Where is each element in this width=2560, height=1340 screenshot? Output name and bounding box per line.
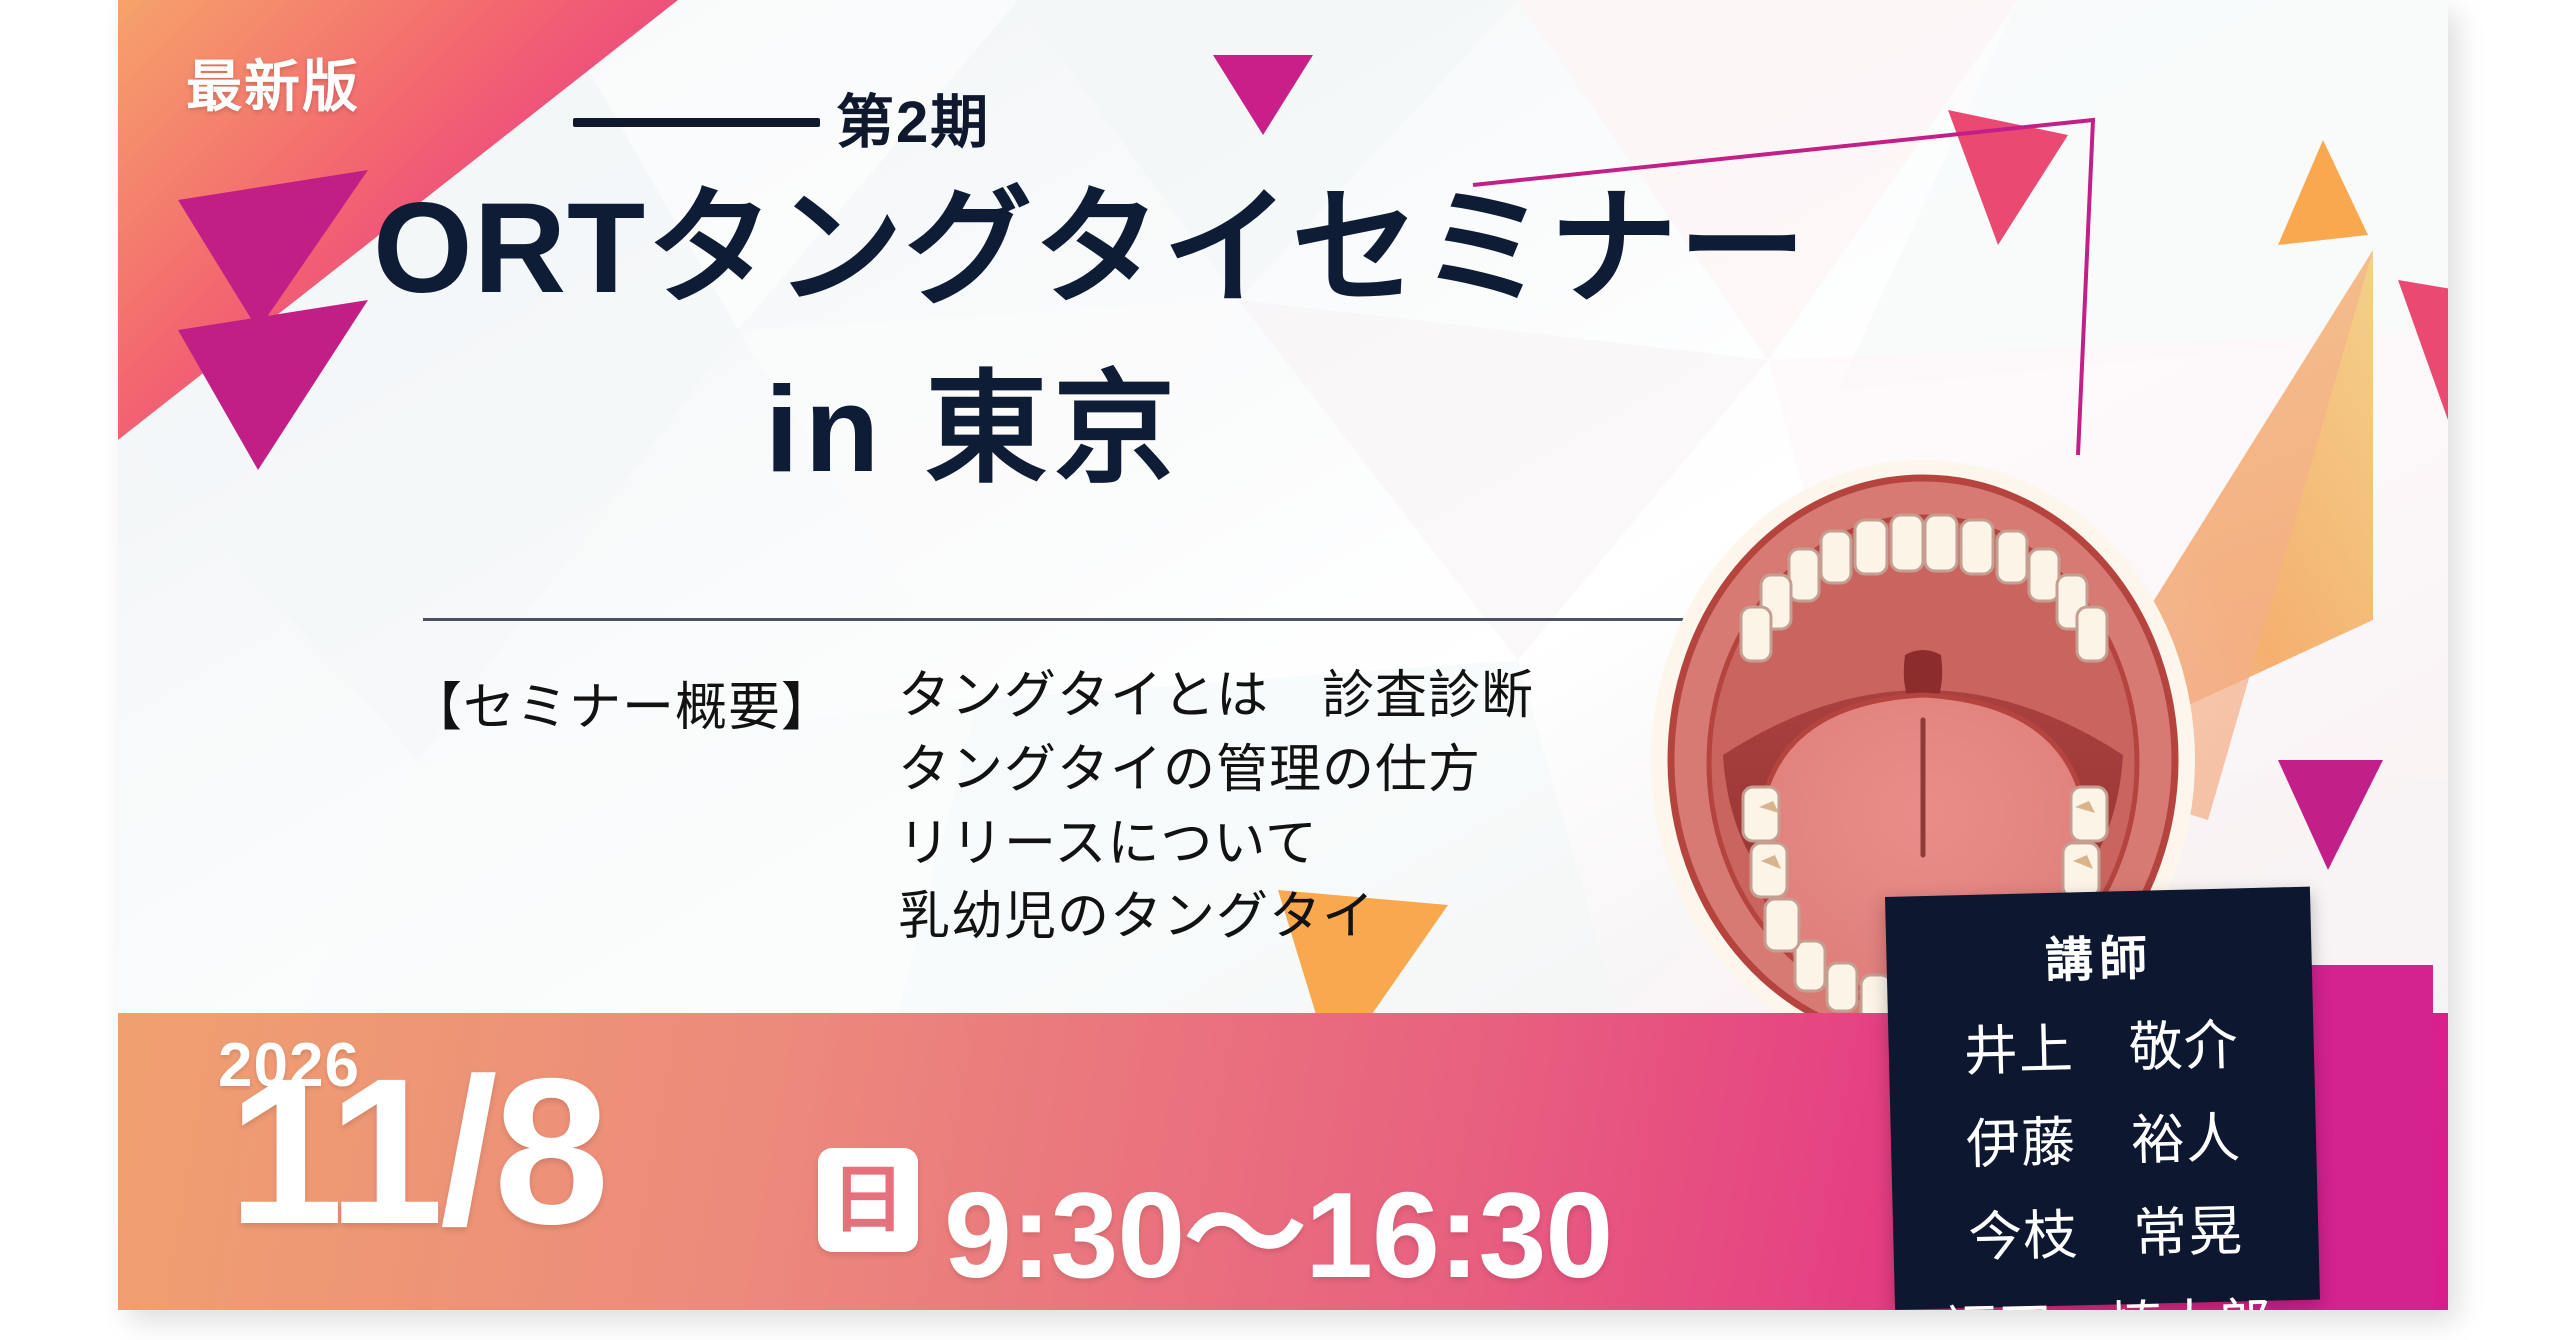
instructor-name: 伊藤 裕人	[1890, 1092, 2317, 1181]
outline-divider	[423, 618, 1733, 621]
term-rule	[573, 118, 820, 127]
outline-label: 【セミナー概要】	[410, 665, 834, 740]
weekday-badge: 日	[818, 1148, 918, 1252]
outline-list: タングタイとは 診査診断 タングタイの管理の仕方 リリースについて 乳幼児のタン…	[898, 660, 1534, 955]
instructor-name: 井上 敬介	[1888, 999, 2315, 1088]
time-range-label: 9:30〜16:30	[944, 1136, 1612, 1310]
weekday-label: 日	[831, 1163, 905, 1237]
banner-stage: 最新版	[0, 0, 2560, 1340]
term-label: 第2期	[836, 75, 990, 159]
instructor-name: 福田 慎太郎	[1895, 1277, 2322, 1310]
outline-item: タングタイの管理の仕方	[898, 734, 1534, 808]
instructor-panel-title: 講師	[1886, 915, 2313, 995]
instructor-panel: 講師 井上 敬介 伊藤 裕人 今枝 常晃 福田 慎太郎	[1885, 887, 2320, 1310]
outline-item: 乳幼児のタングタイ	[898, 881, 1534, 955]
date-label: 11/8	[228, 1048, 605, 1256]
outline-item: リリースについて	[898, 808, 1534, 882]
outline-item: タングタイとは 診査診断	[898, 660, 1534, 734]
page-title: ORTタングタイセミナー	[373, 185, 2153, 313]
page-subtitle: in 東京	[373, 330, 1573, 507]
instructor-name: 今枝 常晃	[1892, 1185, 2319, 1274]
seminar-poster: 最新版	[118, 0, 2448, 1310]
